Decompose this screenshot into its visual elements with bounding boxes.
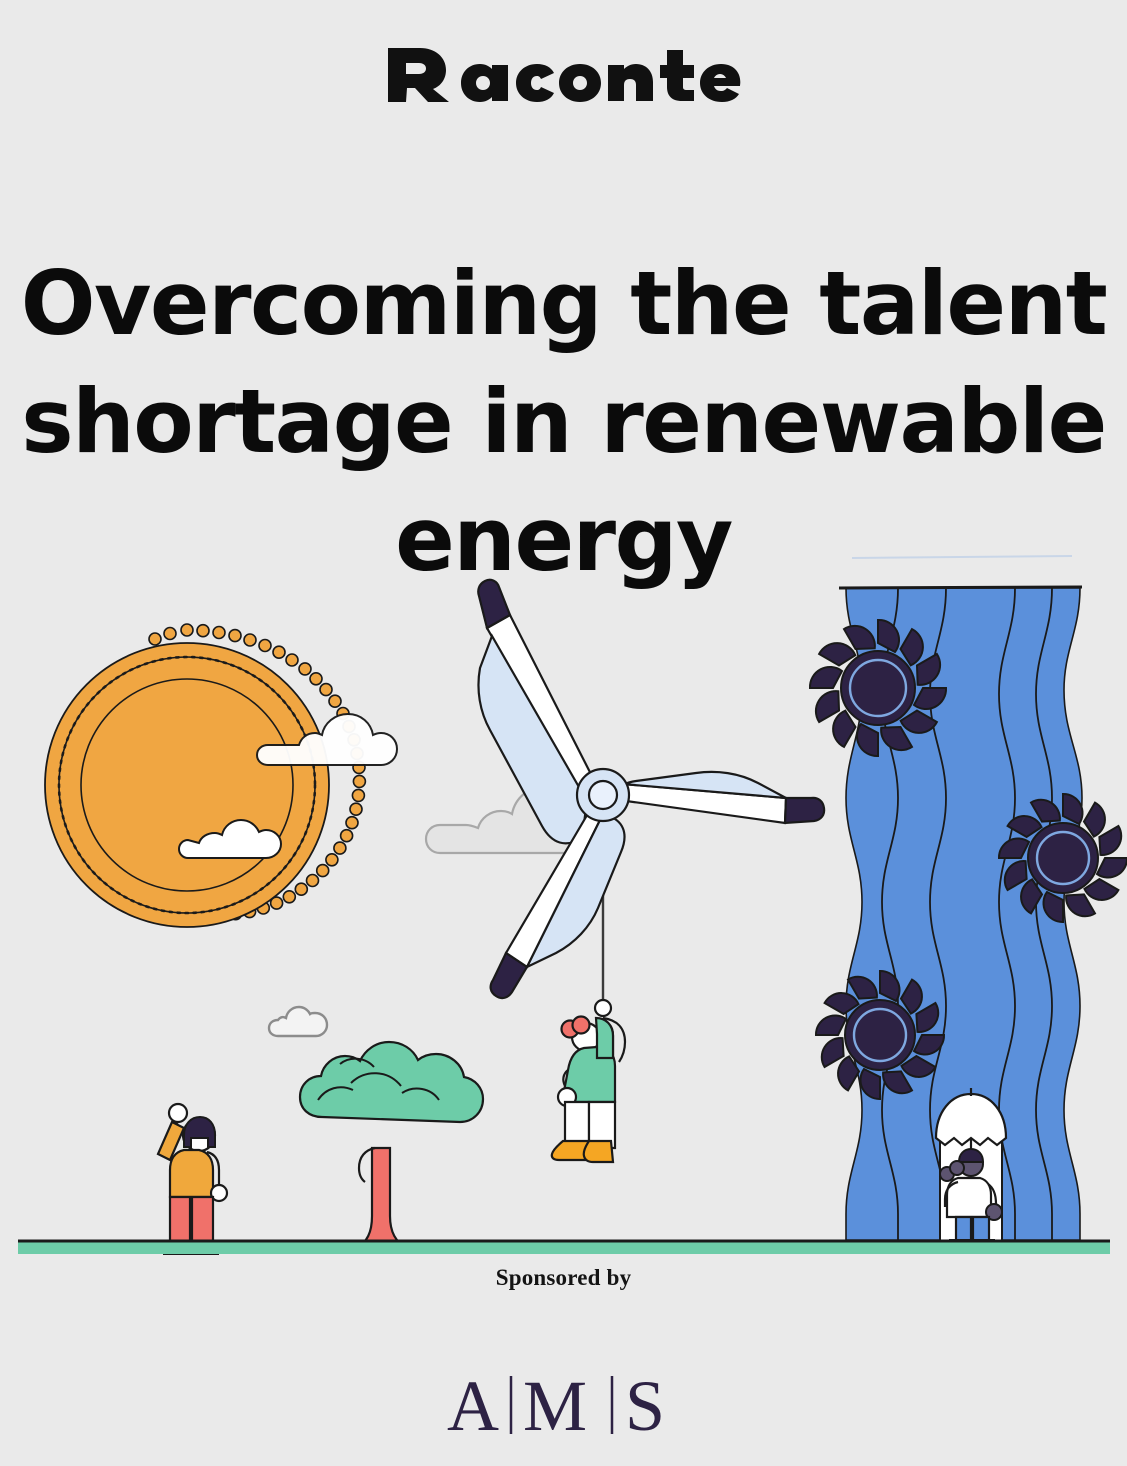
hero-illustration	[0, 540, 1127, 1260]
ams-logo[interactable]: A M S	[0, 1368, 1127, 1453]
ams-letter-m: M	[523, 1368, 587, 1446]
sponsored-by-label: Sponsored by	[0, 1265, 1127, 1291]
small-outline-cloud-icon	[269, 1007, 327, 1036]
ams-letter-a: A	[447, 1368, 499, 1446]
ground-strip	[18, 1240, 1110, 1254]
hanging-technician-icon	[552, 1000, 625, 1162]
umbrella-person-icon	[936, 1088, 1006, 1250]
report-cover: Raconteur Overcoming the talent shortage…	[0, 0, 1127, 1466]
waving-person-icon	[158, 1104, 227, 1254]
wind-turbine-icon	[478, 580, 824, 1005]
raconteur-logo[interactable]	[384, 66, 744, 83]
tree-icon	[300, 1042, 483, 1250]
masthead	[0, 44, 1127, 106]
sun-icon	[45, 624, 365, 927]
ams-letter-s: S	[625, 1368, 665, 1446]
